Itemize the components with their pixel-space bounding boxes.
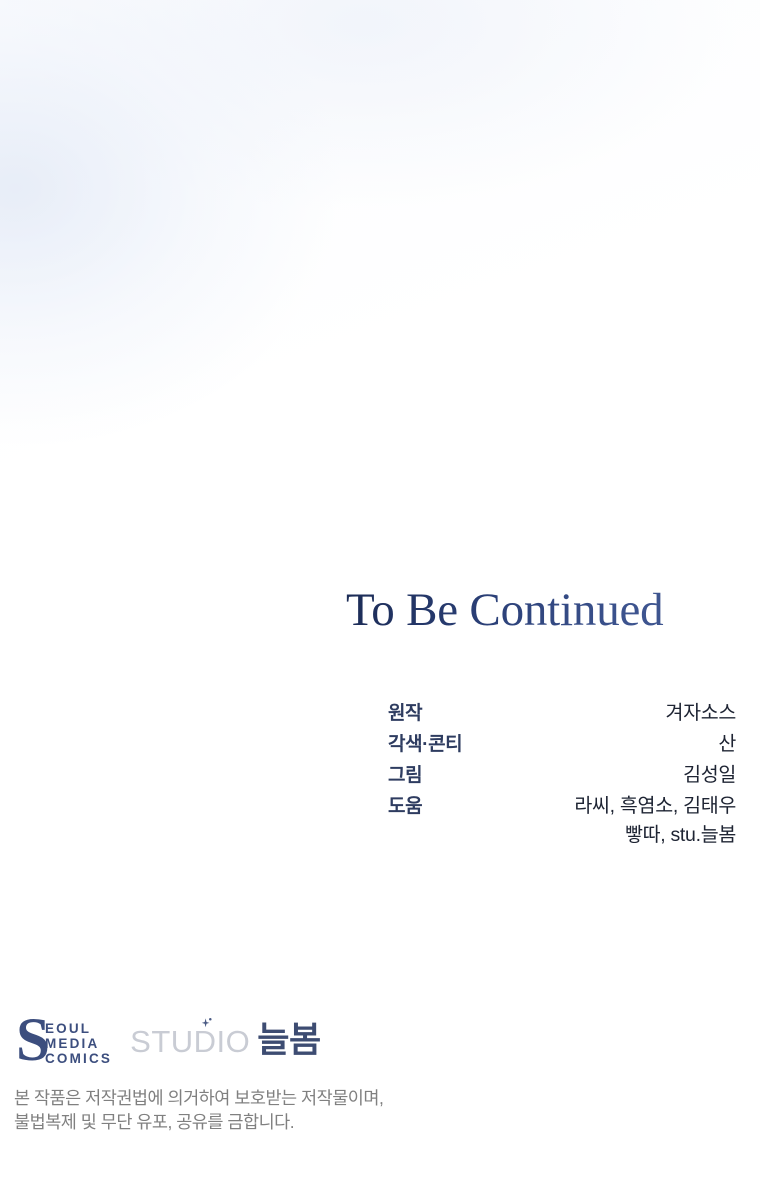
studio-neulbom-logo: STUDIO 늘봄 xyxy=(130,1021,321,1062)
credit-value-original: 겨자소스 xyxy=(665,696,736,725)
logo-word-media: MEDIA xyxy=(45,1036,112,1051)
copyright-line-1: 본 작품은 저작권법에 의거하여 보호받는 저작물이며, xyxy=(14,1086,534,1110)
credit-row: 도움 라씨, 흑염소, 김태우 xyxy=(388,789,736,820)
credit-value-assist-continued: 빻따, stu.늘봄 xyxy=(388,820,736,851)
logo-word-comics: COMICS xyxy=(45,1051,112,1066)
credit-row: 각색·콘티 산 xyxy=(388,727,736,758)
credit-row: 그림 김성일 xyxy=(388,758,736,789)
to-be-continued-title: To Be Continued xyxy=(346,583,746,637)
credits-block: 원작 겨자소스 각색·콘티 산 그림 김성일 도움 라씨, 흑염소, 김태우 빻… xyxy=(388,696,736,851)
copyright-notice: 본 작품은 저작권법에 의거하여 보호받는 저작물이며, 불법복제 및 무단 유… xyxy=(14,1086,534,1134)
credit-row: 원작 겨자소스 xyxy=(388,696,736,727)
studio-name-neulbom: 늘봄 xyxy=(257,1021,320,1061)
webtoon-end-card: To Be Continued 원작 겨자소스 각색·콘티 산 그림 김성일 도… xyxy=(0,0,760,1178)
credit-value-art: 김성일 xyxy=(683,758,736,787)
logo-word-eoul: EOUL xyxy=(45,1021,112,1036)
studio-wordmark: STUDIO xyxy=(130,1022,250,1062)
credit-value-assist: 라씨, 흑염소, 김태우 xyxy=(574,789,736,818)
logo-s-letter-icon: S xyxy=(16,1012,48,1070)
credit-label-art: 그림 xyxy=(388,760,422,787)
seoul-media-comics-logo: S EOUL MEDIA COMICS xyxy=(16,1012,112,1070)
credit-value-adaptation: 산 xyxy=(718,727,736,756)
logo-wordmark: EOUL MEDIA COMICS xyxy=(45,1017,112,1066)
credit-label-original: 원작 xyxy=(388,698,422,725)
credit-label-assist: 도움 xyxy=(388,791,422,818)
credit-label-adaptation: 각색·콘티 xyxy=(388,729,462,756)
publisher-logo-lockup: S EOUL MEDIA COMICS STUDIO 늘봄 xyxy=(16,1010,321,1072)
copyright-line-2: 불법복제 및 무단 유포, 공유를 금합니다. xyxy=(14,1110,534,1134)
